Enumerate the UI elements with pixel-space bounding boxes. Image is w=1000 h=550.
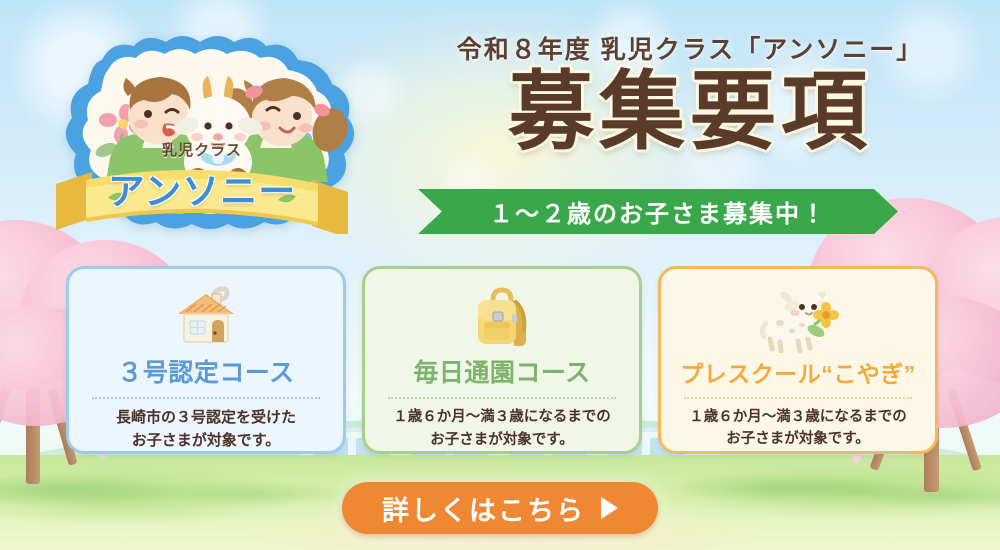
logo-illustration xyxy=(42,34,362,234)
course-card-daily-attendance[interactable]: 毎日通園コース １歳６か月〜満３歳になるまでの お子さまが対象です。 xyxy=(362,266,642,454)
card-description-line2: お子さまが対象です。 xyxy=(116,429,296,452)
card-title: 毎日通園コース xyxy=(413,353,590,389)
course-card-list: ３号認定コース 長崎市の３号認定を受けた お子さまが対象です。 xyxy=(66,266,938,454)
goat-icon xyxy=(752,278,844,354)
card-description-line1: １歳６か月〜満３歳になるまでの xyxy=(393,406,611,428)
backpack-icon xyxy=(464,278,540,352)
card-divider xyxy=(684,397,912,399)
age-ribbon: １〜２歳のお子さま募集中！ xyxy=(418,189,898,234)
card-divider xyxy=(388,397,616,399)
play-triangle-icon xyxy=(601,497,618,519)
card-description-line2: お子さまが対象です。 xyxy=(393,429,611,451)
page-title: 募集要項 xyxy=(430,66,950,159)
card-description: 長崎市の３号認定を受けた お子さまが対象です。 xyxy=(106,406,306,453)
course-card-nursery-certified[interactable]: ３号認定コース 長崎市の３号認定を受けた お子さまが対象です。 xyxy=(66,266,346,454)
card-title: プレスクール“こやぎ” xyxy=(680,355,916,389)
kicker-text: 令和８年度 乳児クラス「アンソニー」 xyxy=(430,30,950,66)
card-description: １歳６か月〜満３歳になるまでの お子さまが対象です。 xyxy=(383,406,621,451)
card-description-line1: 長崎市の３号認定を受けた xyxy=(116,406,296,429)
ribbon-label: １〜２歳のお子さま募集中！ xyxy=(418,189,898,234)
details-button-label: 詳しくはこちら xyxy=(382,489,585,528)
card-description-line2: お子さまが対象です。 xyxy=(689,428,907,450)
course-card-preschool-koyagi[interactable]: プレスクール“こやぎ” １歳６か月〜満３歳になるまでの お子さまが対象です。 xyxy=(658,266,938,454)
card-title: ３号認定コース xyxy=(117,353,294,389)
recruitment-banner: 乳児クラス アンソニー 令和８年度 乳児クラス「アンソニー」 募集要項 １〜２歳… xyxy=(0,0,1000,550)
card-divider xyxy=(92,397,320,399)
details-button[interactable]: 詳しくはこちら xyxy=(342,482,658,534)
card-description: １歳６か月〜満３歳になるまでの お子さまが対象です。 xyxy=(679,406,917,451)
class-logo-badge: 乳児クラス アンソニー xyxy=(42,34,362,234)
card-description-line1: １歳６か月〜満３歳になるまでの xyxy=(689,406,907,428)
house-icon xyxy=(168,278,244,352)
